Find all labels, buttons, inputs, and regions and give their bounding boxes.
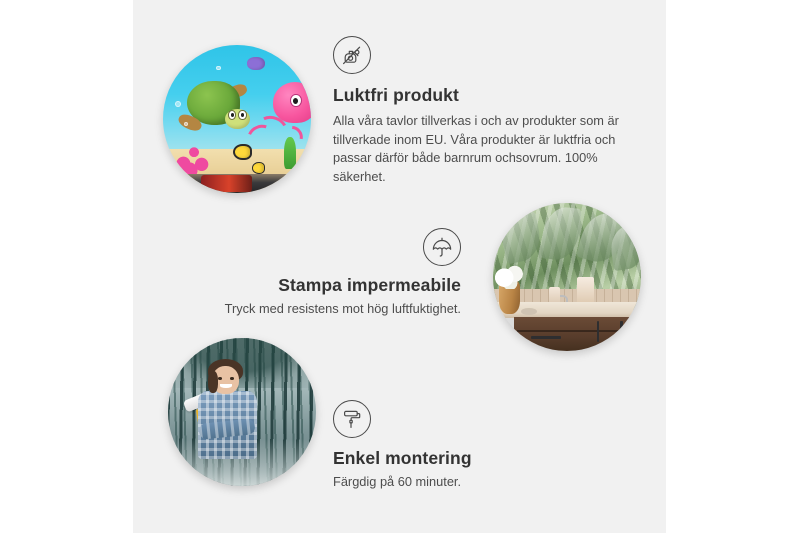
yellow-fish	[233, 144, 252, 160]
woman-paint-roller-circle-image	[168, 338, 316, 486]
feature-waterproof: Stampa impermeabile Tryck med resistens …	[161, 228, 461, 319]
feature-body: Alla våra tavlor tillverkas i och av pro…	[333, 112, 633, 186]
feature-title: Stampa impermeabile	[161, 275, 461, 296]
cabinet-handle	[620, 321, 623, 342]
cabinet-handle	[597, 321, 600, 342]
paint-roller-icon	[333, 400, 371, 438]
coral-decor	[172, 137, 210, 175]
bathroom-botanical-circle-image	[493, 203, 641, 351]
umbrella-icon	[423, 228, 461, 266]
forest-canopy	[168, 338, 316, 388]
leaf-motif	[497, 210, 544, 264]
turtle-eye	[238, 110, 246, 120]
feature-body: Färgdig på 60 minuter.	[333, 473, 633, 492]
leaf-motif	[541, 206, 582, 263]
feature-body: Tryck med resistens mot hög luftfuktighe…	[161, 300, 461, 319]
yellow-fish-small	[252, 162, 265, 174]
bubble	[175, 101, 181, 107]
feature-title: Enkel montering	[333, 448, 633, 469]
product-feature-panel: Luktfri produkt Alla våra tavlor tillver…	[0, 0, 800, 533]
no-scent-perfume-icon	[333, 36, 371, 74]
woman-hair-side	[208, 371, 218, 393]
drawer-handle	[531, 336, 561, 339]
white-flowers	[493, 262, 526, 289]
feature-title: Luktfri produkt	[333, 85, 633, 106]
turtle-eye	[228, 110, 236, 120]
feature-odourless: Luktfri produkt Alla våra tavlor tillver…	[333, 36, 633, 186]
underwater-cartoon-circle-image	[163, 45, 311, 193]
red-furniture-patch	[201, 175, 251, 191]
woman-eye	[230, 377, 234, 380]
purple-fish	[247, 57, 265, 70]
feature-mounting: Enkel montering Färgdig på 60 minuter.	[333, 400, 633, 492]
woman-eye	[218, 377, 222, 380]
